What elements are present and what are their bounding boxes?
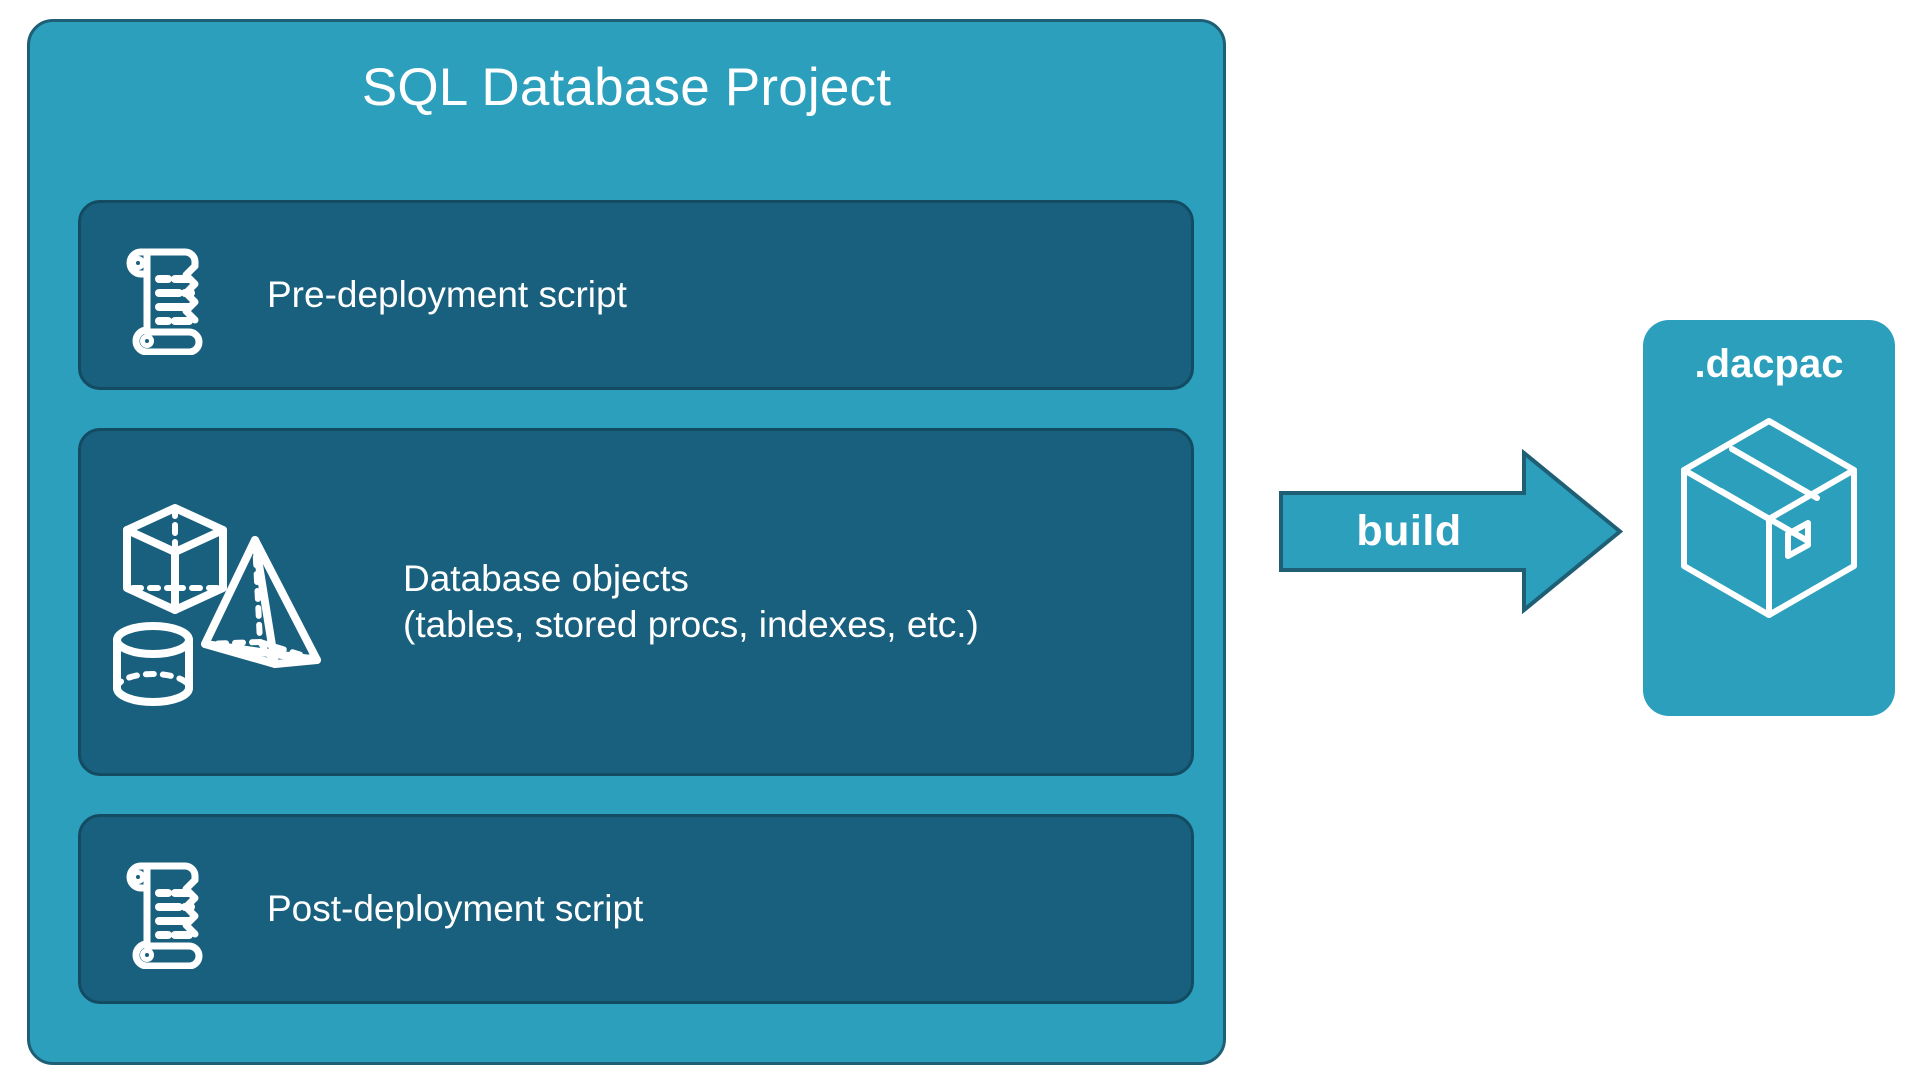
dacpac-title: .dacpac	[1643, 342, 1895, 387]
diagram-canvas: SQL Database Project	[0, 0, 1920, 1080]
card-database-objects[interactable]: Database objects (tables, stored procs, …	[78, 428, 1194, 776]
arrow-right-icon	[1278, 449, 1623, 614]
build-arrow[interactable]: build	[1278, 449, 1623, 614]
3d-shapes-icon	[97, 492, 337, 712]
sql-database-project-container: SQL Database Project	[27, 19, 1226, 1065]
card-label-database-objects: Database objects (tables, stored procs, …	[403, 556, 979, 648]
scroll-icon	[107, 235, 211, 355]
card-label-pre-deployment-script: Pre-deployment script	[267, 272, 627, 318]
dacpac-output-container[interactable]: .dacpac	[1643, 320, 1895, 716]
project-title: SQL Database Project	[30, 60, 1223, 116]
package-box-icon	[1676, 415, 1862, 621]
card-post-deployment-script[interactable]: Post-deployment script	[78, 814, 1194, 1004]
scroll-icon	[107, 849, 211, 969]
card-pre-deployment-script[interactable]: Pre-deployment script	[78, 200, 1194, 390]
card-label-post-deployment-script: Post-deployment script	[267, 886, 643, 932]
